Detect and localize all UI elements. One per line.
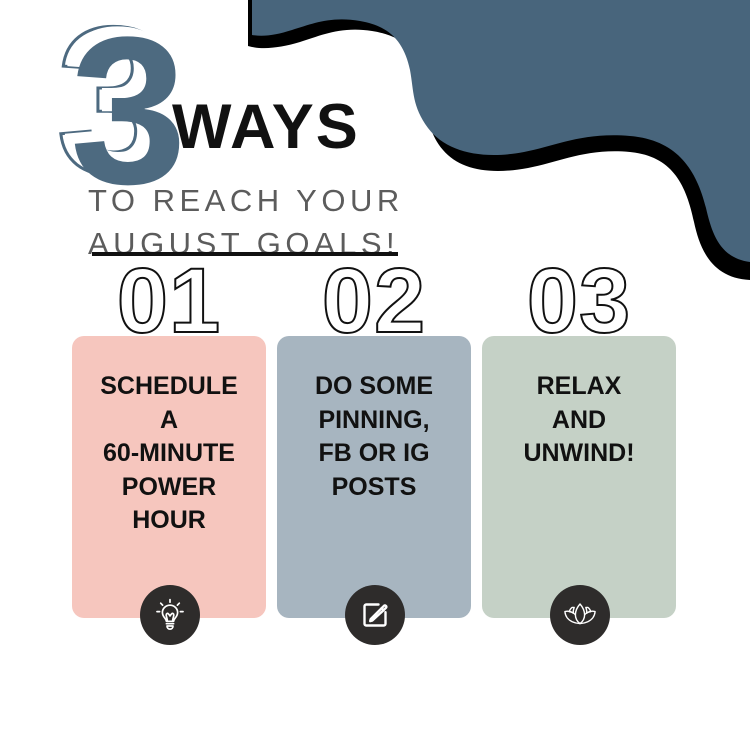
- step-card-02[interactable]: DO SOME PINNING, FB OR IG POSTS: [277, 336, 471, 618]
- lotus-icon: [562, 600, 598, 630]
- step-card-text-03: RELAX AND UNWIND!: [492, 370, 666, 471]
- step-card-text-01: SCHEDULE A 60-MINUTE POWER HOUR: [82, 370, 256, 538]
- step-icon-badge-02[interactable]: [345, 585, 405, 645]
- infographic-poster: 3 3 3 WAYS TO REACH YOUR AUGUST GOALS! 0…: [0, 0, 750, 750]
- edit-pencil-icon: [359, 599, 391, 631]
- steps-row: 01 SCHEDULE A 60-MINUTE POWER HOUR: [0, 0, 750, 750]
- step-card-03[interactable]: RELAX AND UNWIND!: [482, 336, 676, 618]
- step-icon-badge-01[interactable]: [140, 585, 200, 645]
- step-card-text-02: DO SOME PINNING, FB OR IG POSTS: [287, 370, 461, 504]
- step-card-01[interactable]: SCHEDULE A 60-MINUTE POWER HOUR: [72, 336, 266, 618]
- lightbulb-icon: [153, 598, 187, 632]
- step-icon-badge-03[interactable]: [550, 585, 610, 645]
